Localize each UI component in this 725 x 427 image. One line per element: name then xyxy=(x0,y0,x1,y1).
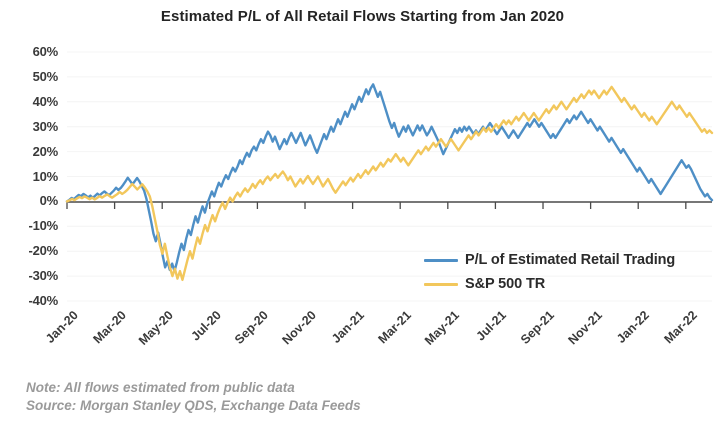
y-axis-tick-label: 30% xyxy=(6,119,58,134)
chart-container: Estimated P/L of All Retail Flows Starti… xyxy=(0,0,725,427)
series-line-retail xyxy=(67,84,712,271)
legend-label-sp500: S&P 500 TR xyxy=(465,276,545,292)
y-axis-tick-label: -40% xyxy=(6,293,58,308)
legend-swatch-sp500 xyxy=(424,283,458,286)
x-axis-ticks xyxy=(67,202,686,209)
y-axis-tick-label: 20% xyxy=(6,144,58,159)
legend-item-retail[interactable]: P/L of Estimated Retail Trading xyxy=(424,248,675,272)
chart-footnotes: Note: All flows estimated from public da… xyxy=(26,379,361,415)
y-axis-tick-label: 10% xyxy=(6,169,58,184)
legend-swatch-retail xyxy=(424,259,458,262)
y-axis-tick-label: 60% xyxy=(6,44,58,59)
y-axis-tick-label: 40% xyxy=(6,94,58,109)
y-axis-tick-label: -10% xyxy=(6,218,58,233)
chart-legend[interactable]: P/L of Estimated Retail Trading S&P 500 … xyxy=(424,248,675,296)
footnote-note: Note: All flows estimated from public da… xyxy=(26,379,361,397)
footnote-source: Source: Morgan Stanley QDS, Exchange Dat… xyxy=(26,397,361,415)
y-axis-tick-label: 50% xyxy=(6,69,58,84)
y-axis-tick-label: -20% xyxy=(6,243,58,258)
chart-plot-area xyxy=(0,0,725,427)
y-axis-tick-label: -30% xyxy=(6,268,58,283)
legend-label-retail: P/L of Estimated Retail Trading xyxy=(465,252,675,268)
legend-item-sp500[interactable]: S&P 500 TR xyxy=(424,272,675,296)
y-axis-tick-label: 0% xyxy=(6,193,58,208)
